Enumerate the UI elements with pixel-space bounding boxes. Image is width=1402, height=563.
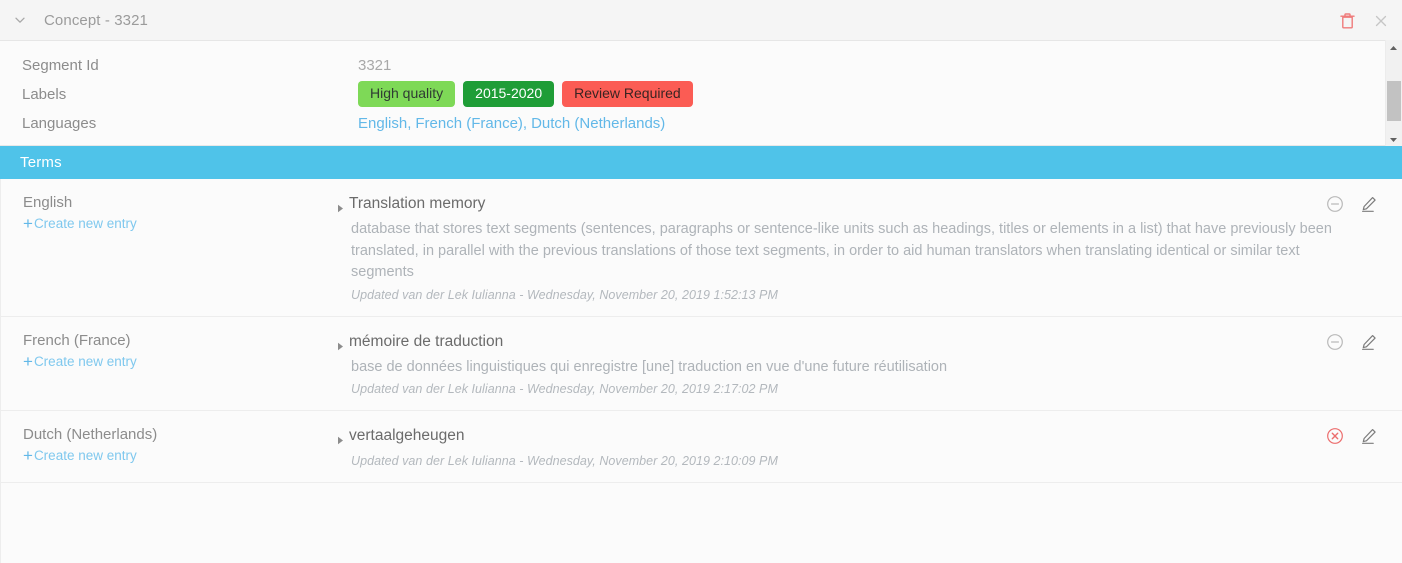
term-updated-info: Updated van der Lek Iulianna - Wednesday… [337,288,1336,302]
create-new-entry-dutch[interactable]: +Create new entry [23,447,137,465]
create-new-entry-label: Create new entry [34,447,137,465]
concept-header: Concept - 3321 [0,0,1402,41]
concept-metadata: Segment Id 3321 Labels High quality 2015… [0,41,1402,146]
scrollbar-thumb[interactable] [1387,81,1401,121]
concept-detail-panel: Concept - 3321 [0,0,1402,536]
term-row-dutch: Dutch (Netherlands) +Create new entry ve… [1,411,1402,483]
pencil-icon[interactable] [1358,425,1380,447]
expand-triangle-icon[interactable] [337,338,344,356]
metadata-row-segment-id: Segment Id 3321 [0,51,1402,79]
expand-triangle-icon[interactable] [337,200,344,218]
chevron-down-icon [13,13,27,27]
x-circle-icon[interactable] [1324,425,1346,447]
term-language-column: Dutch (Netherlands) +Create new entry [1,425,337,468]
labels-label: Labels [22,86,358,103]
terms-list: English +Create new entry Translation me… [0,179,1402,483]
term-row-english: English +Create new entry Translation me… [1,179,1402,317]
labels-tag-list: High quality 2015-2020 Review Required [358,81,701,106]
create-new-entry-label: Create new entry [34,353,137,371]
pencil-icon[interactable] [1358,193,1380,215]
metadata-row-labels: Labels High quality 2015-2020 Review Req… [0,79,1402,109]
expand-triangle-icon[interactable] [337,432,344,450]
trash-icon [1339,12,1356,30]
languages-label: Languages [22,115,358,132]
term-name[interactable]: vertaalgeheugen [349,425,465,446]
page-title: Concept - 3321 [44,12,148,29]
status-badge-high-quality[interactable]: High quality [358,81,455,106]
term-updated-info: Updated van der Lek Iulianna - Wednesday… [337,454,1336,468]
status-badge-year-range[interactable]: 2015-2020 [463,81,554,106]
term-content-column: mémoire de traduction base de données li… [337,331,1402,397]
terms-section-header: Terms [0,146,1402,179]
term-language-column: English +Create new entry [1,193,337,302]
term-language-column: French (France) +Create new entry [1,331,337,397]
collapse-toggle[interactable] [0,0,40,40]
delete-concept-button[interactable] [1336,10,1358,32]
create-new-entry-label: Create new entry [34,215,137,233]
term-name[interactable]: Translation memory [349,193,485,214]
terms-empty-area [0,483,1402,563]
language-link-dutch[interactable]: Dutch (Netherlands) [531,115,665,132]
term-definition: base de données linguistiques qui enregi… [337,357,1336,379]
caret-down-icon [1389,130,1398,148]
pencil-icon[interactable] [1358,331,1380,353]
minus-circle-icon[interactable] [1324,331,1346,353]
terms-section-title: Terms [20,154,62,171]
close-icon [1374,14,1388,28]
create-new-entry-english[interactable]: +Create new entry [23,215,137,233]
term-row-french: French (France) +Create new entry mémoir… [1,317,1402,412]
metadata-scrollbar[interactable] [1385,40,1401,146]
term-content-column: Translation memory database that stores … [337,193,1402,302]
close-panel-button[interactable] [1370,10,1392,32]
language-link-list: English, French (France), Dutch (Netherl… [358,115,669,132]
scrollbar-track[interactable] [1386,54,1402,132]
term-row-actions [1324,331,1380,353]
term-language-label: Dutch (Netherlands) [23,425,337,445]
term-language-label: French (France) [23,331,337,351]
create-new-entry-french[interactable]: +Create new entry [23,353,137,371]
scrollbar-up-button[interactable] [1386,40,1402,54]
segment-id-label: Segment Id [22,57,358,74]
term-content-column: vertaalgeheugen Updated van der Lek Iuli… [337,425,1402,468]
scrollbar-down-button[interactable] [1386,132,1402,146]
plus-icon: + [23,217,33,231]
term-language-label: English [23,193,337,213]
term-name[interactable]: mémoire de traduction [349,331,503,352]
status-badge-review-required[interactable]: Review Required [562,81,693,106]
segment-id-value: 3321 [358,57,391,74]
minus-circle-icon[interactable] [1324,193,1346,215]
term-row-actions [1324,425,1380,447]
plus-icon: + [23,355,33,369]
term-definition: database that stores text segments (sent… [337,219,1336,284]
metadata-row-languages: Languages English, French (France), Dutc… [0,109,1402,137]
term-updated-info: Updated van der Lek Iulianna - Wednesday… [337,382,1336,396]
language-link-english[interactable]: English, [358,115,411,132]
plus-icon: + [23,449,33,463]
metadata-rows: Segment Id 3321 Labels High quality 2015… [0,41,1402,137]
language-link-french[interactable]: French (France), [415,115,527,132]
term-row-actions [1324,193,1380,215]
header-actions [1336,0,1392,41]
